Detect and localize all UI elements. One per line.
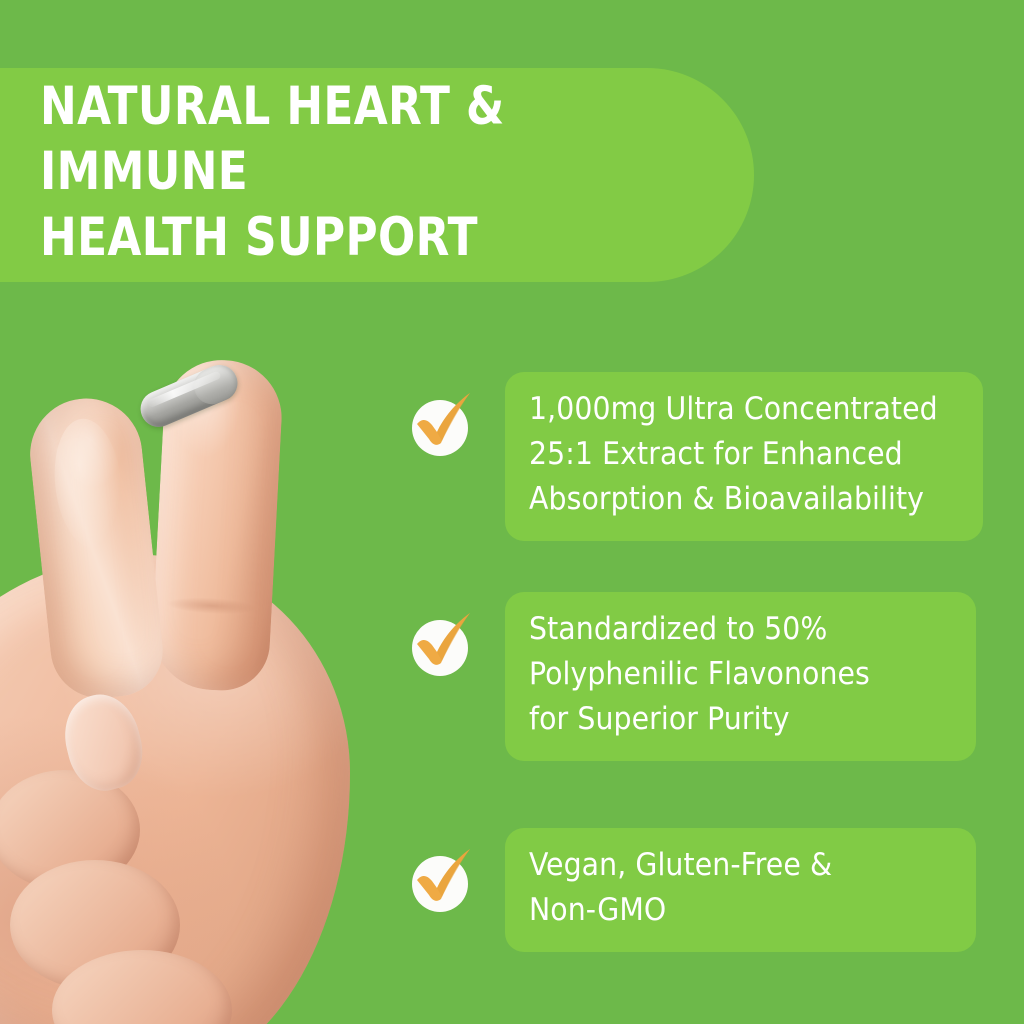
checkmark-glyph — [406, 604, 478, 676]
feature-text: Vegan, Gluten-Free & Non-GMO — [505, 828, 976, 952]
header-banner: NATURAL HEART & IMMUNE HEALTH SUPPORT — [0, 68, 754, 282]
feature-text: 1,000mg Ultra Concentrated 25:1 Extract … — [505, 372, 983, 541]
product-infographic: NATURAL HEART & IMMUNE HEALTH SUPPORT 1,… — [0, 0, 1024, 1024]
feature-item: Standardized to 50% Polyphenilic Flavono… — [408, 592, 976, 761]
feature-item: 1,000mg Ultra Concentrated 25:1 Extract … — [408, 372, 983, 541]
feature-text: Standardized to 50% Polyphenilic Flavono… — [505, 592, 976, 761]
checkmark-glyph — [406, 840, 478, 912]
check-circle-icon — [408, 850, 468, 910]
checkmark-glyph — [406, 384, 478, 456]
header-banner-inner: NATURAL HEART & IMMUNE HEALTH SUPPORT — [0, 74, 754, 276]
product-photo — [0, 300, 420, 1024]
feature-item: Vegan, Gluten-Free & Non-GMO — [408, 828, 976, 952]
check-circle-icon — [408, 394, 468, 454]
check-circle-icon — [408, 614, 468, 674]
page-title: NATURAL HEART & IMMUNE HEALTH SUPPORT — [40, 74, 697, 270]
